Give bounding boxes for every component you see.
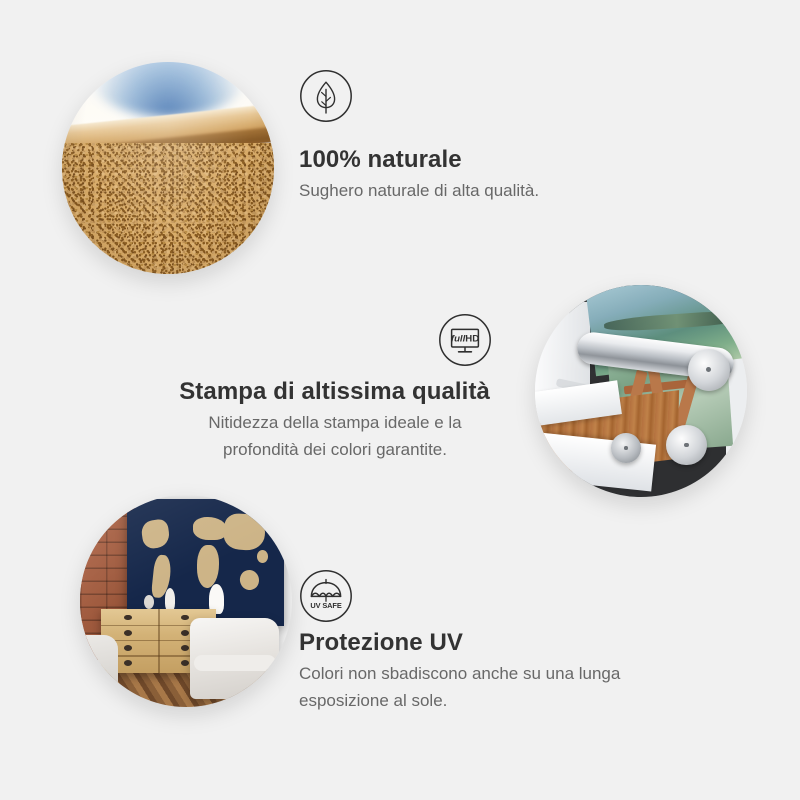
fullhd-icon-label: fullHD <box>451 334 479 345</box>
map-continent-5 <box>223 513 266 551</box>
printer-photo-wheel-3 <box>611 433 641 463</box>
cork-texture-photo <box>62 62 274 274</box>
room-photo-armchair <box>190 618 279 699</box>
feature-description-print-quality-line-1: Nitidezza della stampa ideale e la <box>180 409 490 436</box>
printer-photo-wheel-2 <box>666 425 706 465</box>
room-photo-armchair-secondary <box>80 635 118 703</box>
printer-photo-wheel-1 <box>688 349 730 391</box>
map-continent-4 <box>197 545 219 588</box>
uv-safe-umbrella-icon: UV SAFE <box>299 569 353 623</box>
feature-description-uv-protection-line-2: esposizione al sole. <box>299 687 719 714</box>
feature-title-print-quality: Stampa di altissima qualità <box>90 378 490 406</box>
feature-description-print-quality-line-2: profondità dei colori garantite. <box>180 436 490 463</box>
map-continent-7 <box>257 550 268 563</box>
printing-machine-photo <box>535 285 747 497</box>
cork-photo-vignette <box>62 62 274 274</box>
map-continent-1 <box>140 518 170 549</box>
feature-description-natural: Sughero naturale di alta qualità. <box>299 177 719 204</box>
feature-description-uv-protection-line-1: Colori non sbadiscono anche su una lunga <box>299 660 719 687</box>
uv-safe-icon-label: UV SAFE <box>310 601 342 610</box>
map-continent-3 <box>193 517 228 540</box>
map-continent-6 <box>237 568 260 592</box>
feature-title-uv-protection: Protezione UV <box>299 629 463 657</box>
living-room-world-map-photo <box>80 495 292 707</box>
fullhd-monitor-icon: fullHD <box>438 313 492 367</box>
feature-highlights-panel: 100% naturale Sughero naturale di alta q… <box>0 0 800 800</box>
leaf-icon <box>299 69 353 123</box>
feature-title-natural: 100% naturale <box>299 146 462 174</box>
room-photo-vase-1 <box>165 588 176 611</box>
